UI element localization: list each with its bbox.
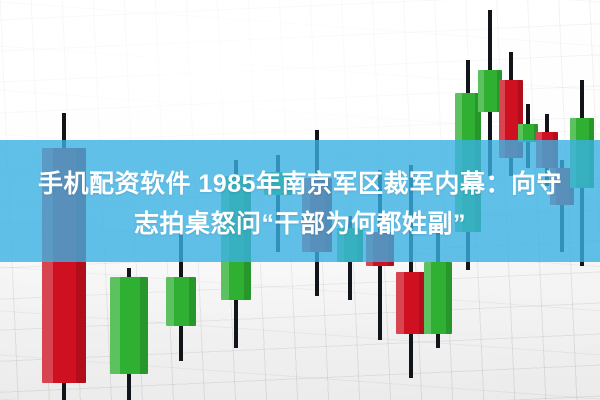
candlestick-body	[396, 272, 426, 334]
banner-image: 手机配资软件 1985年南京军区裁军内幕：向守 志拍桌怒问“干部为何都姓副”	[0, 0, 600, 400]
candlestick-body	[110, 277, 148, 374]
candlestick-body	[424, 262, 452, 334]
page-title: 手机配资软件 1985年南京军区裁军内幕：向守 志拍桌怒问“干部为何都姓副”	[0, 164, 600, 244]
candlestick-body	[166, 277, 196, 326]
headline-line-1: 手机配资软件 1985年南京军区裁军内幕：向守	[0, 164, 600, 204]
headline-line-2: 志拍桌怒问“干部为何都姓副”	[0, 204, 600, 244]
